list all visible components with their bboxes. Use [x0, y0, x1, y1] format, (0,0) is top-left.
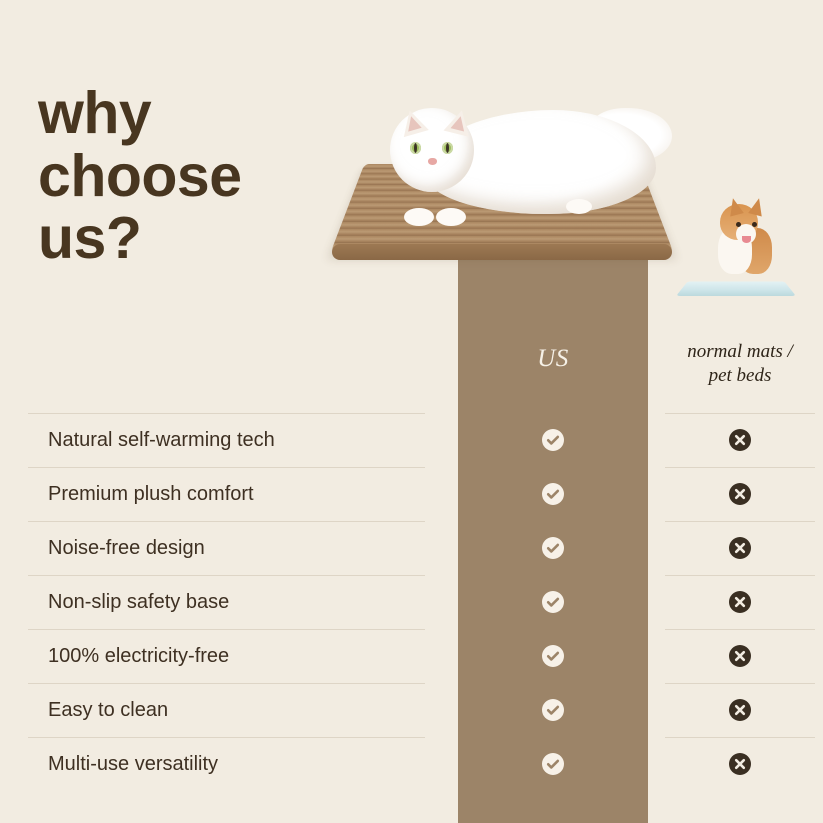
headline-line-2: choose: [38, 145, 368, 208]
table-row: Non-slip safety base: [0, 575, 823, 629]
table-row: 100% electricity-free: [0, 629, 823, 683]
row-divider-right: [665, 521, 815, 522]
cat-nose: [428, 158, 437, 165]
corgi-ear-left: [726, 197, 744, 217]
cat-head: [390, 108, 474, 192]
corgi-eye-right: [752, 222, 757, 227]
cross-circle-icon: [729, 429, 751, 451]
cross-circle-icon: [729, 537, 751, 559]
white-cat: [380, 96, 670, 228]
check-circle-icon: [542, 699, 564, 721]
cross-circle-icon: [729, 483, 751, 505]
table-row: Easy to clean: [0, 683, 823, 737]
feature-label: Natural self-warming tech: [48, 413, 275, 467]
feature-label: Easy to clean: [48, 683, 168, 737]
cross-circle-icon: [729, 645, 751, 667]
feature-label: Premium plush comfort: [48, 467, 254, 521]
competitor-label-line-2: pet beds: [665, 364, 815, 388]
competitor-photo-corgi-on-pad: [676, 196, 800, 296]
corgi-head: [720, 204, 758, 240]
cat-hind-paw: [566, 199, 592, 214]
mat-front-edge: [332, 244, 672, 260]
comparison-rows: Natural self-warming techPremium plush c…: [0, 413, 823, 791]
cross-circle-icon: [729, 753, 751, 775]
cross-circle-icon: [729, 699, 751, 721]
competitor-label-line-1: normal mats /: [665, 340, 815, 364]
row-divider-right: [665, 683, 815, 684]
cat-front-paw-left: [404, 208, 434, 226]
corgi-eye-left: [736, 222, 741, 227]
check-circle-icon: [542, 645, 564, 667]
feature-label: 100% electricity-free: [48, 629, 229, 683]
row-divider-right: [665, 629, 815, 630]
corgi-dog: [710, 198, 772, 276]
headline-line-1: why: [38, 82, 368, 145]
row-divider-right: [665, 575, 815, 576]
feature-label: Noise-free design: [48, 521, 205, 575]
table-row: Premium plush comfort: [0, 467, 823, 521]
headline-line-3: us?: [38, 207, 368, 270]
row-divider-right: [665, 413, 815, 414]
feature-label: Multi-use versatility: [48, 737, 218, 791]
cat-front-paw-right: [436, 208, 466, 226]
feature-label: Non-slip safety base: [48, 575, 229, 629]
cat-eye-right: [442, 142, 453, 154]
table-row: Multi-use versatility: [0, 737, 823, 791]
check-circle-icon: [542, 429, 564, 451]
row-divider-right: [665, 737, 815, 738]
corgi-tongue: [742, 236, 751, 243]
cross-circle-icon: [729, 591, 751, 613]
page-title: why choose us?: [38, 82, 368, 270]
corgi-ear-right: [748, 197, 766, 217]
check-circle-icon: [542, 537, 564, 559]
product-photo-cat-on-mat: [322, 96, 680, 261]
row-divider-right: [665, 467, 815, 468]
check-circle-icon: [542, 591, 564, 613]
column-header-us: US: [458, 345, 648, 373]
column-header-competitor: normal mats / pet beds: [665, 340, 815, 388]
pet-training-pad: [676, 281, 796, 296]
table-row: Noise-free design: [0, 521, 823, 575]
comparison-infographic: why choose us?: [0, 0, 823, 823]
check-circle-icon: [542, 753, 564, 775]
cat-eye-left: [410, 142, 421, 154]
check-circle-icon: [542, 483, 564, 505]
table-row: Natural self-warming tech: [0, 413, 823, 467]
